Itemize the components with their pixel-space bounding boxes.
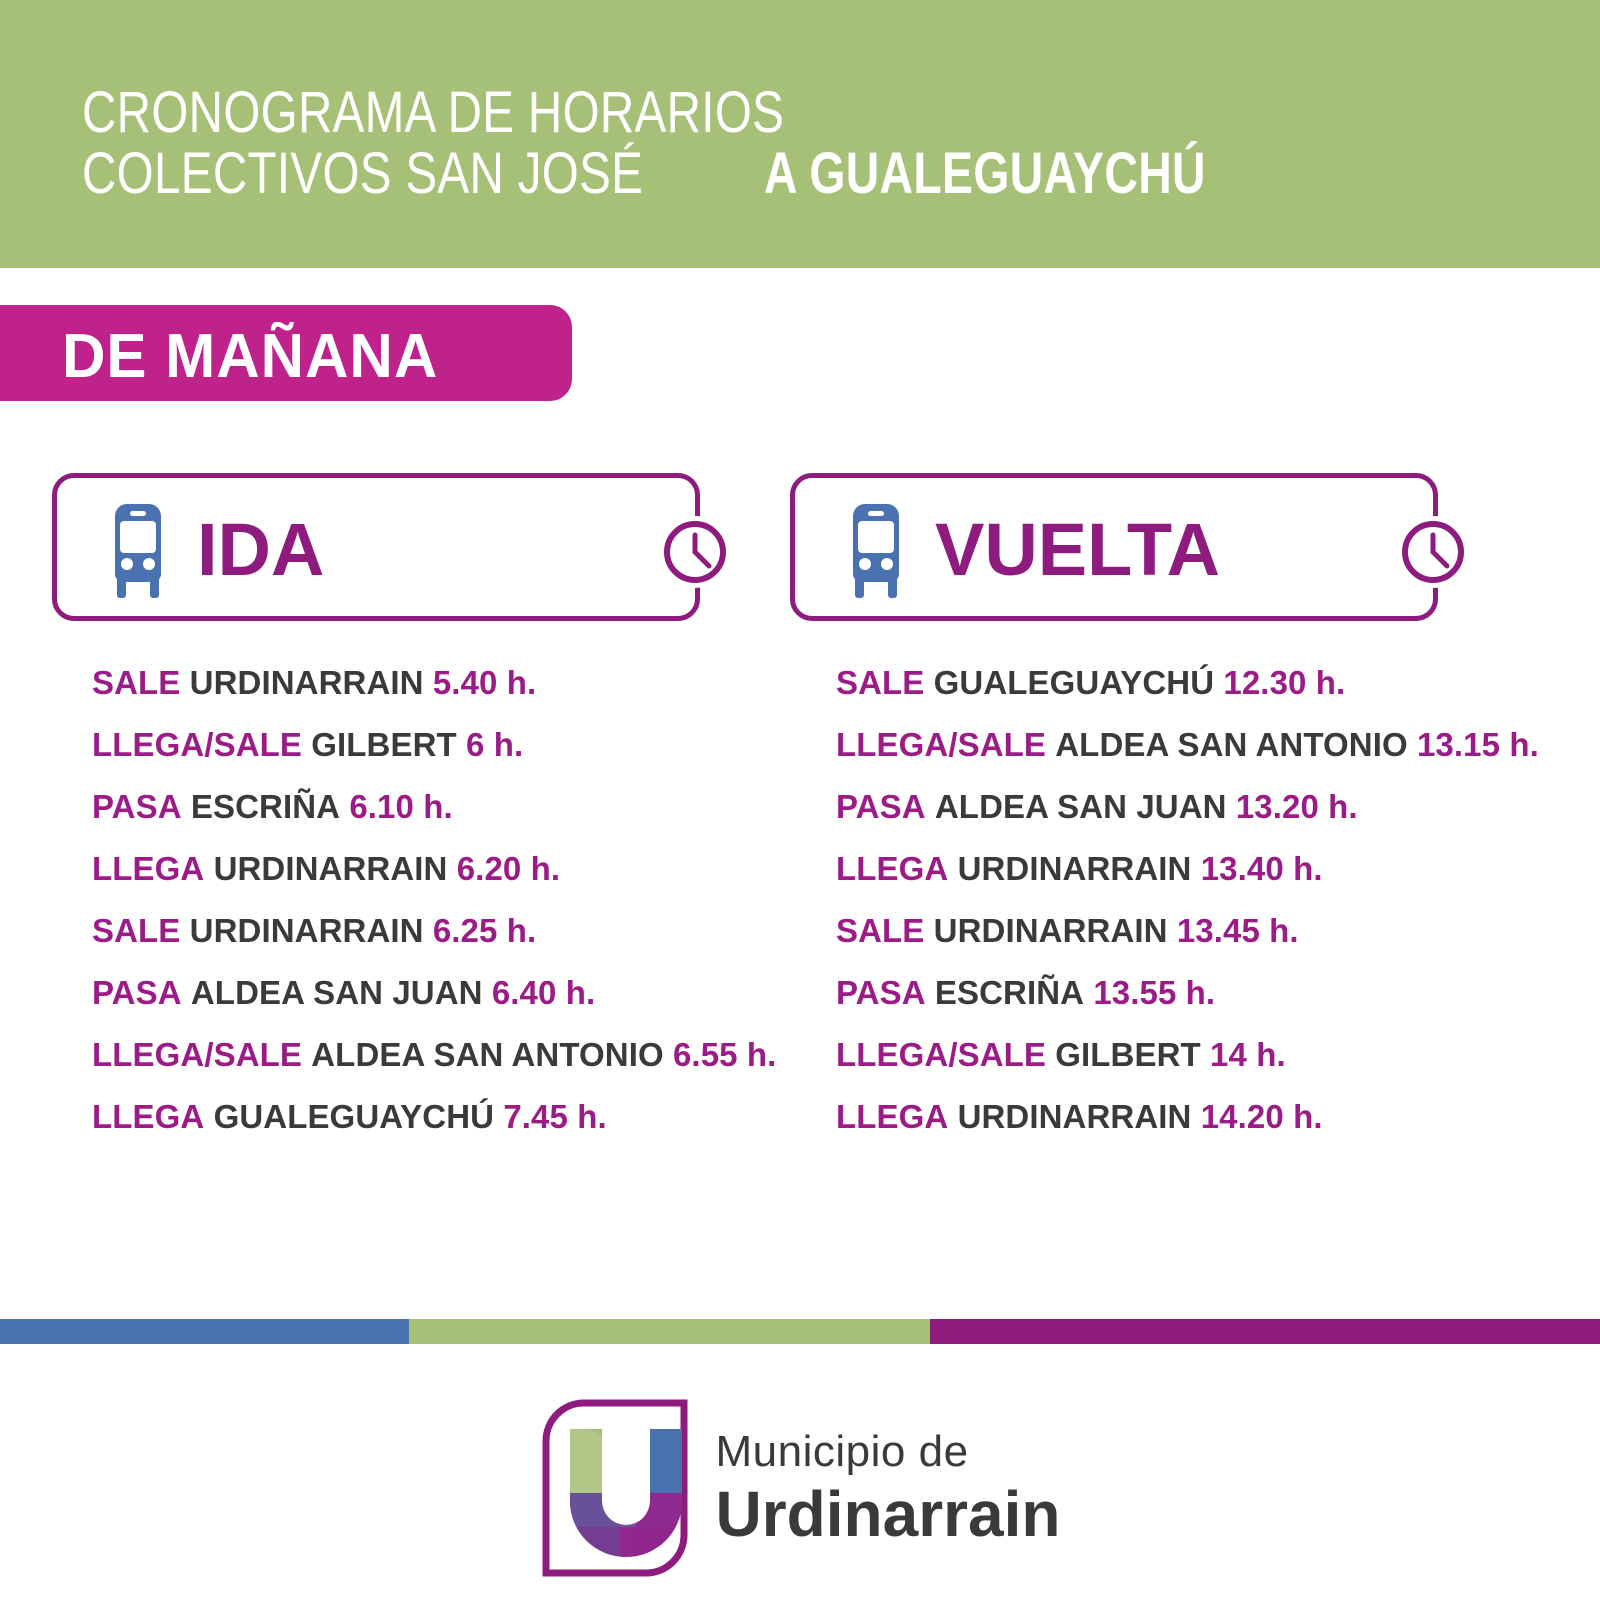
color-stripe	[0, 1319, 1600, 1344]
direction-box-ida: IDA	[52, 473, 700, 621]
logo-text: Municipio de Urdinarrain	[716, 1430, 1061, 1546]
schedule-action: LLEGA/SALE	[836, 726, 1046, 763]
schedule-time: 6 h.	[466, 726, 523, 763]
logo-text-municipio: Municipio de	[716, 1430, 1061, 1474]
schedule-place: URDINARRAIN	[958, 850, 1192, 887]
schedule-row: PASAALDEA SAN JUAN13.20 h.	[836, 776, 1576, 838]
schedule-time: 12.30 h.	[1223, 664, 1345, 701]
schedule-row: LLEGAGUALEGUAYCHÚ7.45 h.	[92, 1086, 812, 1148]
page-title-line-2: COLECTIVOS SAN JOSÉA GUALEGUAYCHÚ	[82, 143, 1317, 204]
page-title: CRONOGRAMA DE HORARIOS COLECTIVOS SAN JO…	[82, 82, 1317, 205]
schedule-action: SALE	[836, 912, 924, 949]
shift-banner: DE MAÑANA	[0, 305, 572, 401]
schedule-place: ALDEA SAN ANTONIO	[1055, 726, 1408, 763]
schedule-time: 6.10 h.	[349, 788, 452, 825]
page-title-route-origin: COLECTIVOS SAN JOSÉ	[82, 143, 643, 204]
schedule-place: URDINARRAIN	[190, 912, 424, 949]
page-title-line-1-text: CRONOGRAMA DE HORARIOS	[82, 82, 784, 143]
schedule-list-vuelta: SALEGUALEGUAYCHÚ12.30 h.LLEGA/SALEALDEA …	[836, 652, 1576, 1148]
schedule-action: LLEGA	[92, 1098, 204, 1135]
schedule-row: SALEGUALEGUAYCHÚ12.30 h.	[836, 652, 1576, 714]
schedule-action: SALE	[836, 664, 924, 701]
schedule-time: 5.40 h.	[433, 664, 536, 701]
schedule-row: LLEGAURDINARRAIN13.40 h.	[836, 838, 1576, 900]
schedule-row: LLEGA/SALEGILBERT14 h.	[836, 1024, 1576, 1086]
schedule-action: SALE	[92, 912, 180, 949]
page-title-route-destination: A GUALEGUAYCHÚ	[764, 143, 1206, 204]
schedule-place: URDINARRAIN	[190, 664, 424, 701]
schedule-row: PASAESCRIÑA6.10 h.	[92, 776, 812, 838]
schedule-row: LLEGAURDINARRAIN14.20 h.	[836, 1086, 1576, 1148]
schedule-place: GILBERT	[1055, 1036, 1201, 1073]
stripe-segment-blue	[0, 1319, 409, 1344]
schedule-place: ALDEA SAN JUAN	[191, 974, 483, 1011]
stripe-segment-green	[409, 1319, 930, 1344]
schedule-place: ALDEA SAN ANTONIO	[311, 1036, 664, 1073]
bus-icon	[105, 504, 171, 600]
schedule-action: LLEGA	[836, 850, 948, 887]
clock-icon	[659, 516, 731, 588]
schedule-time: 14 h.	[1210, 1036, 1286, 1073]
schedule-place: ALDEA SAN JUAN	[935, 788, 1227, 825]
schedule-time: 6.40 h.	[492, 974, 595, 1011]
schedule-place: GUALEGUAYCHÚ	[934, 664, 1215, 701]
schedule-place: GUALEGUAYCHÚ	[214, 1098, 495, 1135]
schedule-row: PASAESCRIÑA13.55 h.	[836, 962, 1576, 1024]
stripe-segment-purple	[930, 1319, 1600, 1344]
header-band: CRONOGRAMA DE HORARIOS COLECTIVOS SAN JO…	[0, 0, 1600, 268]
schedule-row: SALEURDINARRAIN6.25 h.	[92, 900, 812, 962]
logo-text-urdinarrain: Urdinarrain	[716, 1482, 1061, 1546]
shift-banner-label: DE MAÑANA	[62, 321, 438, 392]
schedule-time: 13.20 h.	[1236, 788, 1358, 825]
clock-icon	[1397, 516, 1469, 588]
page-title-line-1: CRONOGRAMA DE HORARIOS	[82, 82, 1317, 143]
schedule-action: LLEGA/SALE	[836, 1036, 1046, 1073]
schedule-row: LLEGA/SALEALDEA SAN ANTONIO13.15 h.	[836, 714, 1576, 776]
direction-box-vuelta: VUELTA	[790, 473, 1438, 621]
schedule-place: URDINARRAIN	[934, 912, 1168, 949]
schedule-time: 13.45 h.	[1177, 912, 1299, 949]
schedule-action: PASA	[836, 788, 926, 825]
municipality-u-logo-icon	[540, 1397, 690, 1579]
schedule-place: URDINARRAIN	[958, 1098, 1192, 1135]
schedule-row: PASAALDEA SAN JUAN6.40 h.	[92, 962, 812, 1024]
schedule-action: LLEGA	[92, 850, 204, 887]
footer: Municipio de Urdinarrain	[0, 1376, 1600, 1600]
schedule-place: ESCRIÑA	[935, 974, 1084, 1011]
schedule-place: URDINARRAIN	[214, 850, 448, 887]
schedule-time: 6.20 h.	[457, 850, 560, 887]
schedule-action: PASA	[92, 974, 182, 1011]
schedule-place: GILBERT	[311, 726, 457, 763]
schedule-action: PASA	[92, 788, 182, 825]
schedule-time: 13.15 h.	[1417, 726, 1539, 763]
schedule-row: SALEURDINARRAIN13.45 h.	[836, 900, 1576, 962]
schedule-time: 13.40 h.	[1201, 850, 1323, 887]
schedule-time: 7.45 h.	[503, 1098, 606, 1135]
direction-label-vuelta: VUELTA	[935, 500, 1220, 600]
schedule-time: 14.20 h.	[1201, 1098, 1323, 1135]
schedule-action: LLEGA	[836, 1098, 948, 1135]
schedule-action: LLEGA/SALE	[92, 1036, 302, 1073]
schedule-list-ida: SALEURDINARRAIN5.40 h.LLEGA/SALEGILBERT6…	[92, 652, 812, 1148]
schedule-row: SALEURDINARRAIN5.40 h.	[92, 652, 812, 714]
schedule-action: LLEGA/SALE	[92, 726, 302, 763]
schedule-place: ESCRIÑA	[191, 788, 340, 825]
schedule-row: LLEGA/SALEGILBERT6 h.	[92, 714, 812, 776]
schedule-action: SALE	[92, 664, 180, 701]
direction-label-ida: IDA	[197, 500, 324, 600]
schedule-action: PASA	[836, 974, 926, 1011]
schedule-time: 6.55 h.	[673, 1036, 776, 1073]
schedule-time: 13.55 h.	[1093, 974, 1215, 1011]
schedule-row: LLEGAURDINARRAIN6.20 h.	[92, 838, 812, 900]
schedule-row: LLEGA/SALEALDEA SAN ANTONIO6.55 h.	[92, 1024, 812, 1086]
schedule-time: 6.25 h.	[433, 912, 536, 949]
bus-icon	[843, 504, 909, 600]
